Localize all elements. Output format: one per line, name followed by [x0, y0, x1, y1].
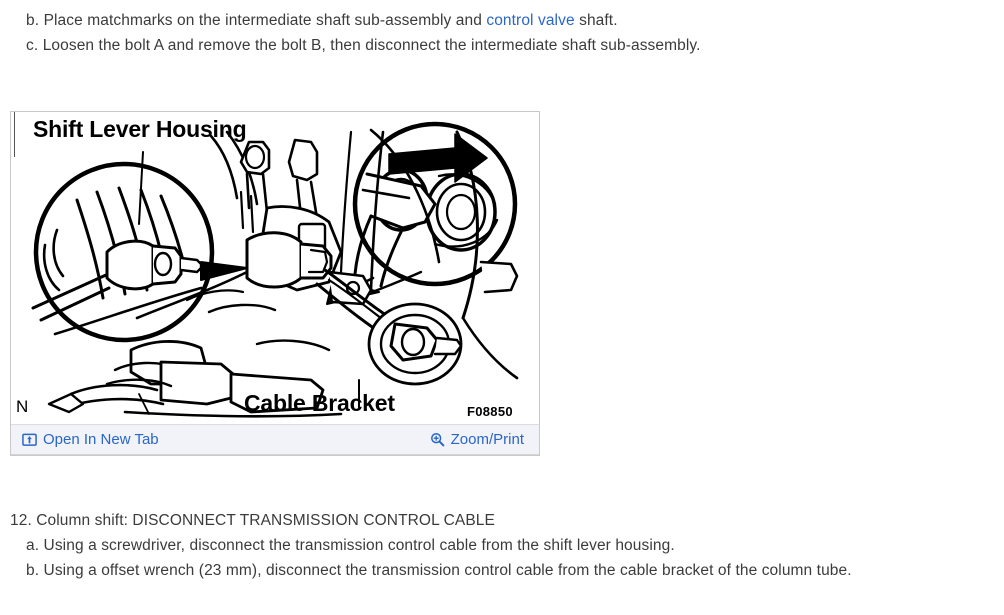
step-marker: c.: [26, 37, 38, 54]
step-line-12: 12. Column shift: DISCONNECT TRANSMISSIO…: [0, 508, 1004, 533]
figure-image-area[interactable]: Shift Lever Housing Cable Bracket N F088…: [11, 112, 539, 424]
open-in-new-tab-icon: [22, 432, 37, 447]
figure-code-label: F08850: [467, 404, 513, 419]
transmission-linkage-diagram: [11, 112, 539, 424]
steps-top-block: b. Place matchmarks on the intermediate …: [0, 8, 1004, 58]
figure-toolbar: Open In New Tab Zoom/Print: [11, 424, 539, 455]
step-line-12b: b. Using a offset wrench (23 mm), discon…: [0, 558, 1004, 583]
zoom-print-label: Zoom/Print: [451, 431, 524, 448]
step-marker: b.: [26, 12, 39, 29]
magnifier-plus-icon: [430, 432, 445, 447]
figure-label-shift-lever-housing: Shift Lever Housing: [33, 116, 246, 143]
step-line-c: c. Loosen the bolt A and remove the bolt…: [0, 33, 1004, 58]
figure-panel: Shift Lever Housing Cable Bracket N F088…: [10, 111, 540, 456]
step-text: Loosen the bolt A and remove the bolt B,…: [43, 37, 701, 54]
open-in-new-tab-button[interactable]: Open In New Tab: [22, 431, 159, 448]
zoom-print-button[interactable]: Zoom/Print: [430, 431, 524, 448]
page-root: b. Place matchmarks on the intermediate …: [0, 0, 1004, 615]
figure-label-north-marker: N: [16, 397, 28, 417]
step-text-part-1: Place matchmarks on the intermediate sha…: [44, 12, 487, 29]
steps-bottom-block: 12. Column shift: DISCONNECT TRANSMISSIO…: [0, 508, 1004, 583]
control-valve-link[interactable]: control valve: [486, 12, 574, 29]
figure-label-cable-bracket: Cable Bracket: [244, 390, 395, 417]
open-in-new-tab-label: Open In New Tab: [43, 431, 159, 448]
step-line-12a: a. Using a screwdriver, disconnect the t…: [0, 533, 1004, 558]
step-line-b: b. Place matchmarks on the intermediate …: [0, 8, 1004, 33]
step-text-part-2: shaft.: [575, 12, 618, 29]
